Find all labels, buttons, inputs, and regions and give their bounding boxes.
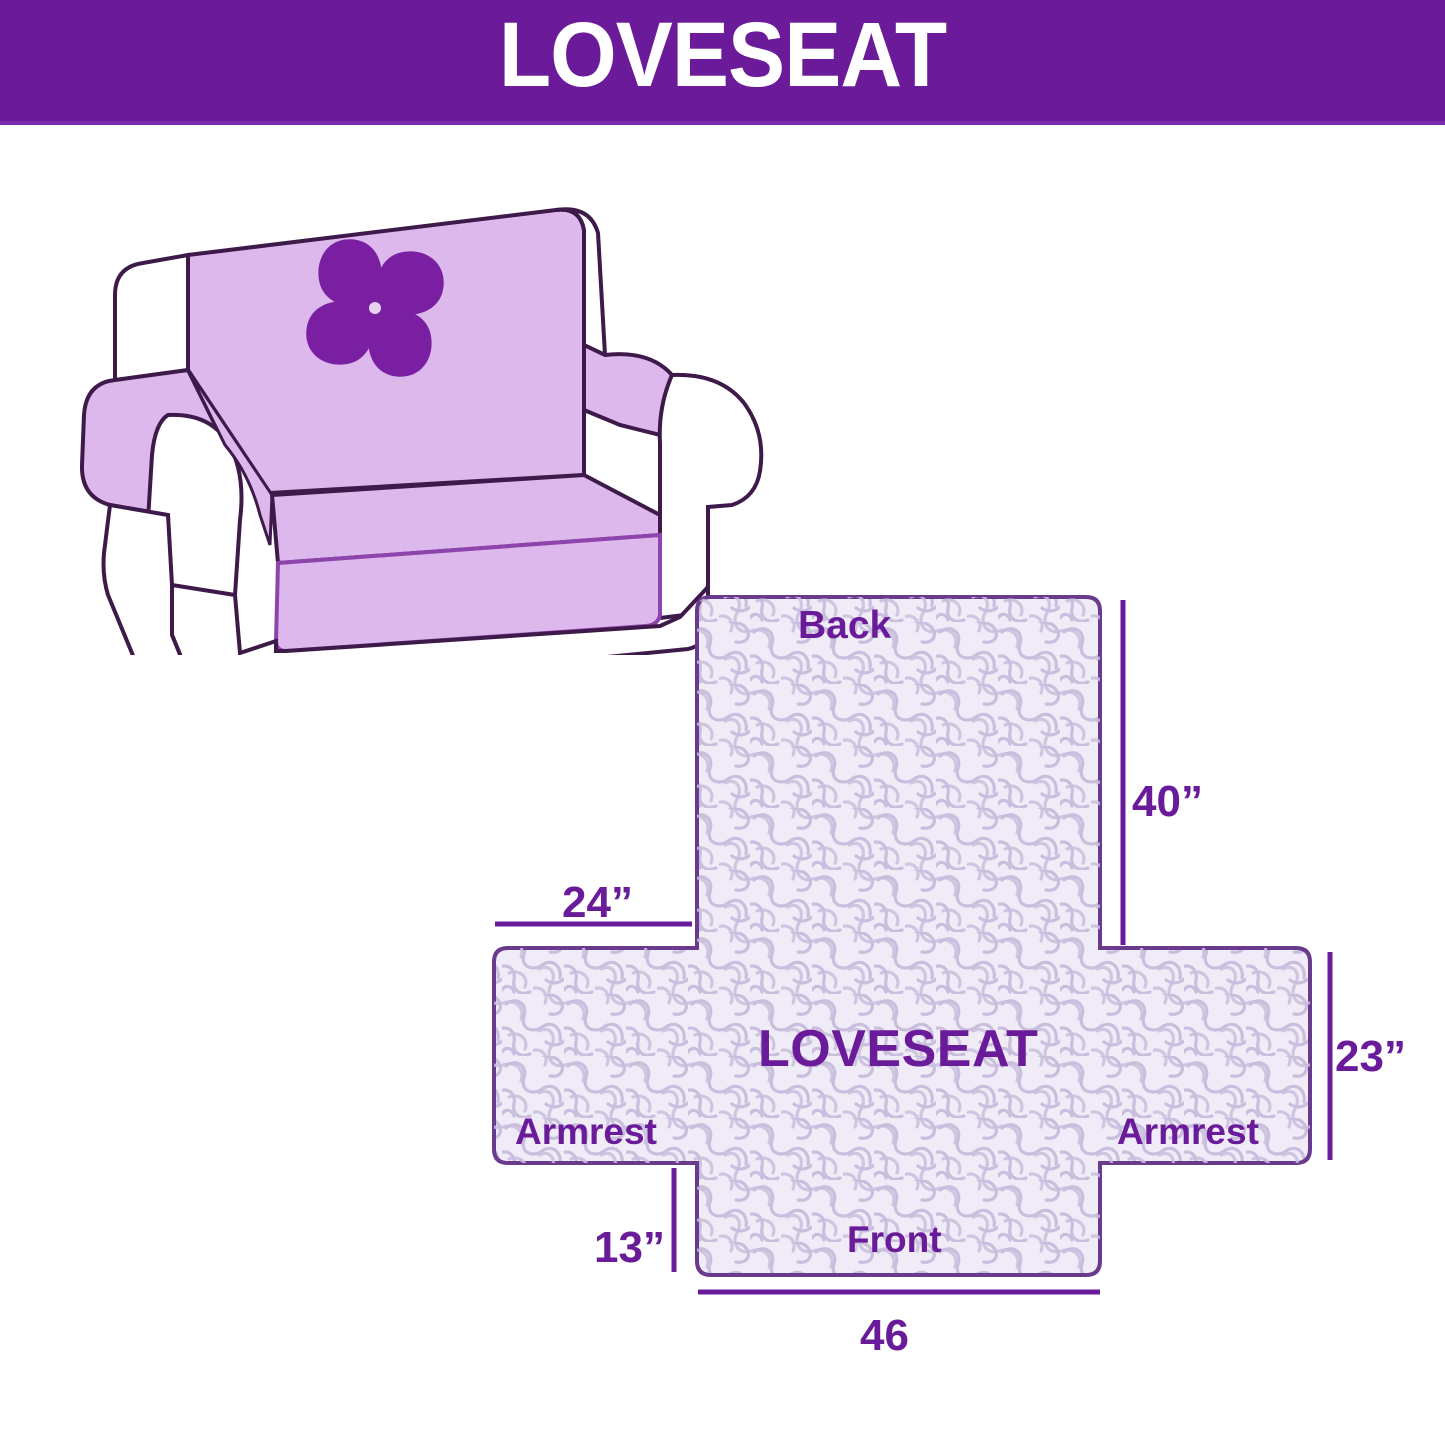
dimension-label-armrest-height: 23”: [1335, 1032, 1406, 1082]
panel-label-front: Front: [847, 1219, 942, 1261]
sofa-back-outer: [115, 255, 188, 380]
panel-label-back: Back: [798, 604, 891, 648]
dimension-label-back-height: 40”: [1132, 777, 1203, 827]
panel-label-armrest-right: Armrest: [1117, 1111, 1259, 1153]
dimension-label-front-height: 13”: [594, 1223, 665, 1273]
pattern-piece-diagram: Back LOVESEAT Armrest Armrest Front 40” …: [440, 560, 1445, 1370]
product-dimension-infographic: LOVESEAT: [0, 0, 1445, 1445]
panel-label-armrest-left: Armrest: [515, 1111, 657, 1153]
page-title: LOVESEAT: [51, 9, 1395, 101]
dimension-label-back-width: 24”: [562, 878, 633, 928]
pattern-center-label: LOVESEAT: [758, 1019, 1038, 1079]
slipcover-stipple-overlay: [494, 597, 1310, 1275]
header-band-bottom-edge: [0, 121, 1445, 125]
dimension-label-front-width: 46: [860, 1311, 909, 1361]
pinwheel-fan-logo: [306, 239, 443, 376]
pattern-piece-svg: [440, 560, 1445, 1370]
